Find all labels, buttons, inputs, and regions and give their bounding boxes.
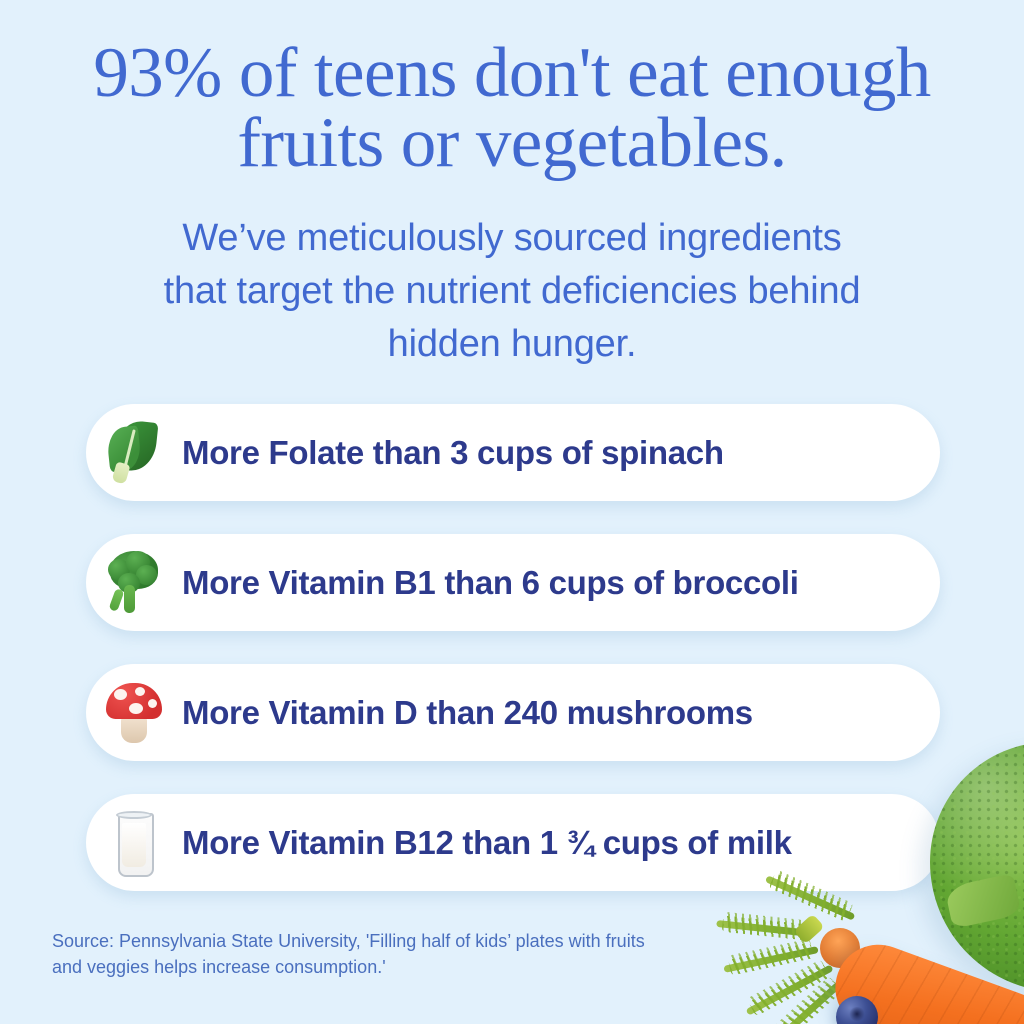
- subheading-line-2: that target the nutrient deficiencies be…: [0, 265, 1024, 318]
- carrot-shoulder: [814, 922, 865, 973]
- leafy-green-icon: [86, 419, 182, 487]
- carrot-photo: [823, 933, 1024, 1024]
- benefit-card-vitamin-b1: More Vitamin B1 than 6 cups of broccoli: [86, 534, 940, 631]
- broccoli-photo-texture: [930, 742, 1024, 992]
- glass-of-milk-icon: [86, 809, 182, 877]
- broccoli-photo: [930, 742, 1024, 992]
- infographic-poster: 93% of teens don't eat enough fruits or …: [0, 0, 1024, 1024]
- benefit-card-label: More Vitamin B12 than 1 ¾ cups of milk: [182, 824, 792, 862]
- blueberry-photo: [836, 996, 878, 1024]
- source-line-2: and veggies helps increase consumption.': [52, 954, 752, 980]
- benefit-card-label: More Vitamin D than 240 mushrooms: [182, 694, 753, 732]
- headline-line-1: 93% of teens don't eat enough: [0, 38, 1024, 108]
- carrot-frond: [746, 964, 834, 1015]
- benefit-card-label: More Vitamin B1 than 6 cups of broccoli: [182, 564, 799, 602]
- benefit-card-list: More Folate than 3 cups of spinach More …: [86, 404, 940, 924]
- broccoli-icon: [86, 549, 182, 617]
- page-subheading: We’ve meticulously sourced ingredients t…: [0, 212, 1024, 371]
- subheading-line-1: We’ve meticulously sourced ingredients: [0, 212, 1024, 265]
- carrot-frond: [768, 979, 844, 1024]
- headline-line-2: fruits or vegetables.: [0, 108, 1024, 178]
- mushroom-icon: [86, 679, 182, 747]
- benefit-card-vitamin-d: More Vitamin D than 240 mushrooms: [86, 664, 940, 761]
- broccoli-stem: [944, 873, 1021, 929]
- benefit-card-vitamin-b12: More Vitamin B12 than 1 ¾ cups of milk: [86, 794, 940, 891]
- carrot-texture: [823, 933, 1024, 1024]
- benefit-card-folate: More Folate than 3 cups of spinach: [86, 404, 940, 501]
- page-headline: 93% of teens don't eat enough fruits or …: [0, 38, 1024, 178]
- subheading-line-3: hidden hunger.: [0, 318, 1024, 371]
- source-line-1: Source: Pennsylvania State University, '…: [52, 928, 752, 954]
- source-note: Source: Pennsylvania State University, '…: [52, 928, 752, 980]
- benefit-card-label: More Folate than 3 cups of spinach: [182, 434, 724, 472]
